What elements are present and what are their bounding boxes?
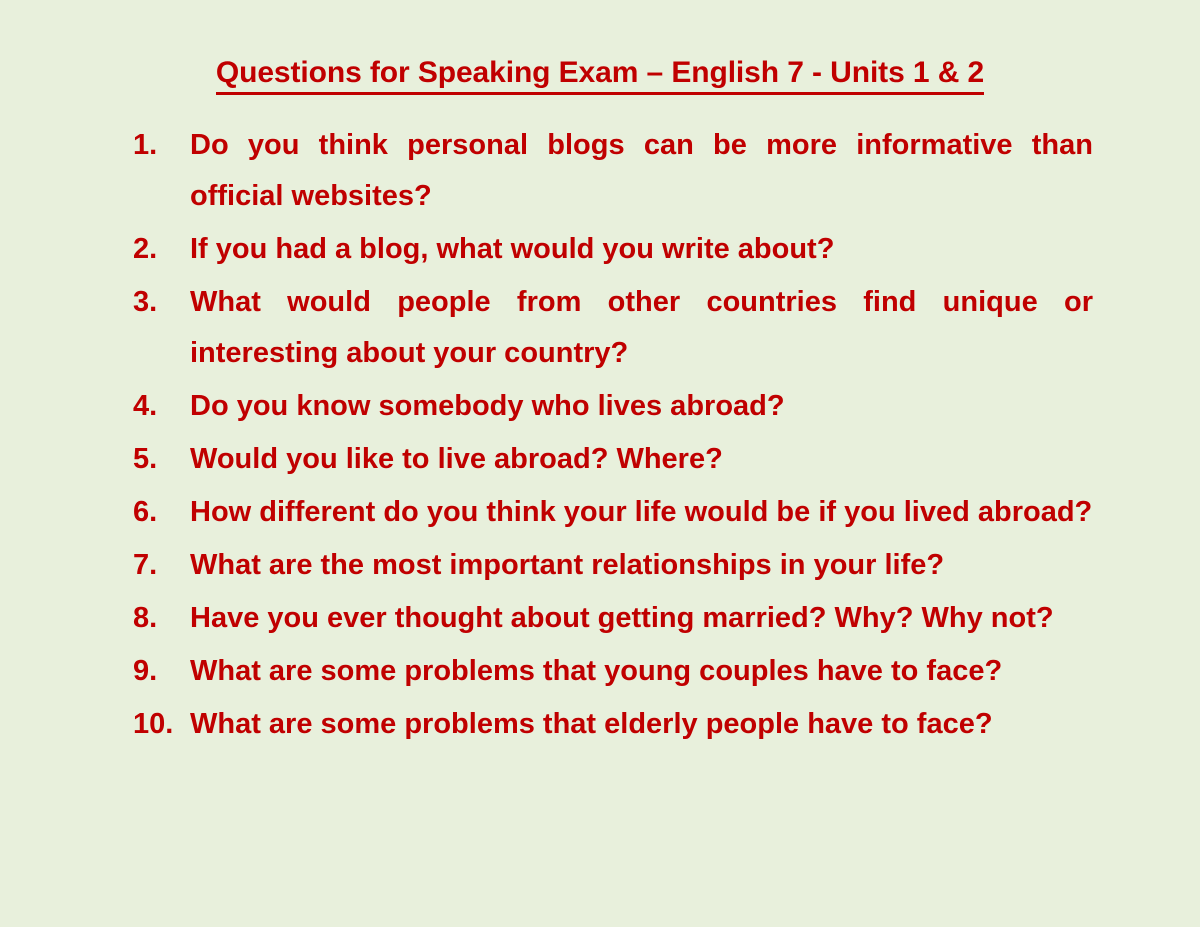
page-title: Questions for Speaking Exam – English 7 … [0,55,1200,95]
list-item-text: Do you know somebody who lives abroad? [190,381,1093,432]
list-item: 10. What are some problems that elderly … [133,699,1093,750]
list-item-number: 8. [133,593,190,644]
list-item-number: 10. [133,699,190,750]
list-item: 6. How different do you think your life … [133,487,1093,538]
list-item-number: 9. [133,646,190,697]
list-item-number: 1. [133,120,190,171]
list-item-text: Would you like to live abroad? Where? [190,434,1093,485]
list-item: 7. What are the most important relations… [133,540,1093,591]
list-item-number: 7. [133,540,190,591]
list-item-text: What are some problems that elderly peop… [190,699,1093,750]
list-item: 4. Do you know somebody who lives abroad… [133,381,1093,432]
list-item: 1. Do you think personal blogs can be mo… [133,120,1093,222]
list-item: 3. What would people from other countrie… [133,277,1093,379]
list-item-text: If you had a blog, what would you write … [190,224,1093,275]
list-item-text: What are some problems that young couple… [190,646,1093,697]
list-item: 2. If you had a blog, what would you wri… [133,224,1093,275]
list-item: 9. What are some problems that young cou… [133,646,1093,697]
list-item-text: What are the most important relationship… [190,540,1093,591]
list-item: 5. Would you like to live abroad? Where? [133,434,1093,485]
list-item-number: 3. [133,277,190,328]
list-item: 8. Have you ever thought about getting m… [133,593,1093,644]
questions-list: 1. Do you think personal blogs can be mo… [133,120,1093,752]
page-title-text: Questions for Speaking Exam – English 7 … [216,55,984,95]
list-item-text: What would people from other countries f… [190,277,1093,379]
slide-canvas: Questions for Speaking Exam – English 7 … [0,0,1200,927]
list-item-text: How different do you think your life wou… [190,487,1093,538]
list-item-number: 6. [133,487,190,538]
list-item-number: 4. [133,381,190,432]
list-item-number: 5. [133,434,190,485]
list-item-text: Do you think personal blogs can be more … [190,120,1093,222]
list-item-text: Have you ever thought about getting marr… [190,593,1093,644]
list-item-number: 2. [133,224,190,275]
